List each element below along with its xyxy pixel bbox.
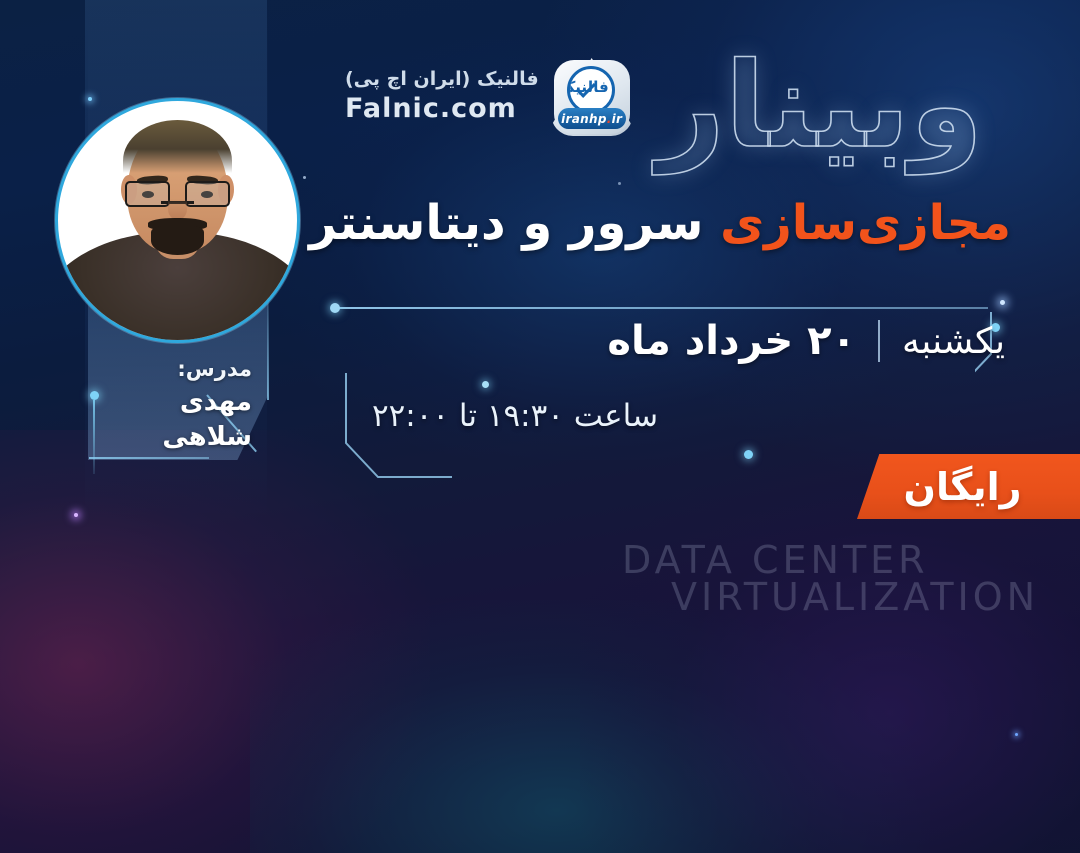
schedule-date: ۲۰ خرداد ماه — [607, 318, 856, 364]
schedule-date-row: یکشنبه ۲۰ خرداد ماه — [607, 318, 1005, 364]
sparkle-icon — [1000, 300, 1005, 305]
schedule-day: یکشنبه — [902, 321, 1005, 362]
datacenter-illustration — [0, 473, 1080, 853]
brand-name-fa: فالنیک (ایران اچ پی) — [345, 68, 539, 92]
presenter-card-edge-bottom — [89, 457, 209, 459]
accent-dot-icon — [744, 450, 753, 459]
sparkle-icon — [303, 176, 306, 179]
photo-beard — [151, 226, 204, 255]
presenter-photo — [58, 101, 297, 340]
webinar-outline-title: وبینار — [620, 46, 1020, 164]
title-rest: سرور و دیتاسنتر — [309, 195, 703, 251]
watermark-line-2: VIRTUALIZATION — [671, 575, 1039, 619]
presenter-info: مدرس: مهدی شلاهی — [88, 355, 266, 456]
photo-hair — [123, 120, 233, 173]
brand-name-en: Falnic.com — [345, 92, 539, 126]
accent-dot-icon — [330, 303, 340, 313]
logo-inner-text: فالنیک — [567, 78, 609, 96]
schedule-time: ساعت ۱۹:۳۰ تا ۲۲:۰۰ — [372, 398, 658, 434]
brand-logo[interactable]: فالنیک iranhp.ir فالنیک (ایران اچ پی) Fa… — [345, 58, 633, 136]
page-title: مجازی‌سازی سرور و دیتاسنتر — [300, 193, 1020, 253]
logo-band-text: iranhp.ir — [561, 112, 622, 126]
accent-dot-icon — [482, 381, 489, 388]
avatar — [55, 98, 300, 343]
divider-line — [338, 307, 988, 309]
logo-circle: فالنیک — [567, 66, 615, 114]
title-highlight: مجازی‌سازی — [720, 195, 1011, 251]
brand-text-block: فالنیک (ایران اچ پی) Falnic.com — [345, 68, 539, 126]
free-badge[interactable]: رایگان — [857, 454, 1080, 519]
free-badge-label: رایگان — [904, 465, 1034, 509]
presenter-role-label: مدرس: — [88, 355, 252, 383]
schedule-separator — [878, 320, 880, 362]
webinar-poster: DATA CENTER VIRTUALIZATION — [0, 0, 1080, 853]
presenter-name: مهدی شلاهی — [88, 385, 252, 455]
logo-url-band: iranhp.ir — [558, 108, 626, 129]
sparkle-icon — [618, 182, 621, 185]
